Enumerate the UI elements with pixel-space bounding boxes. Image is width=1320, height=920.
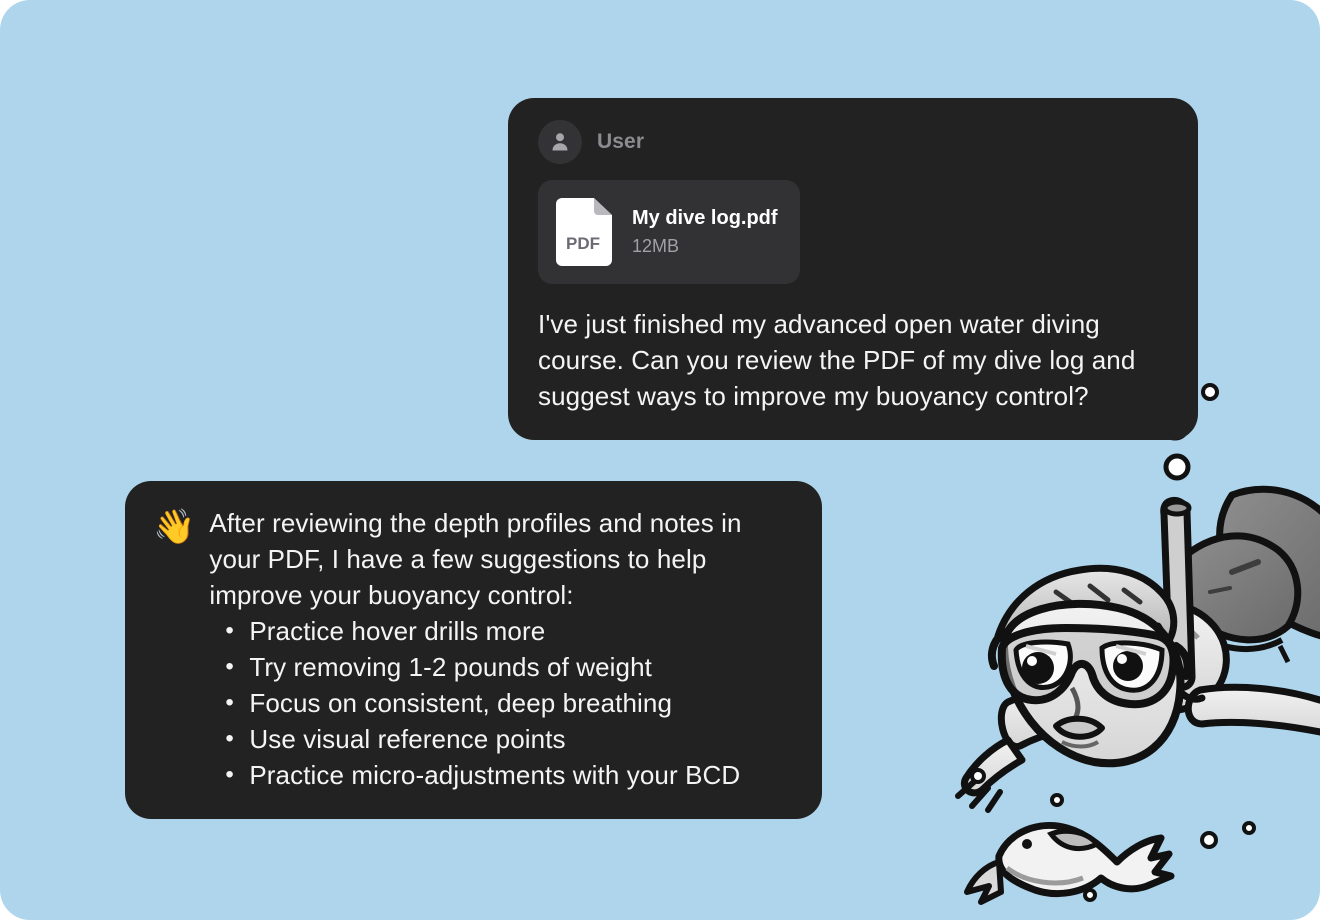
air-bubble-icon — [1080, 885, 1100, 905]
list-item: Focus on consistent, deep breathing — [209, 685, 792, 721]
assistant-message-bubble: 👋 After reviewing the depth profiles and… — [125, 481, 822, 819]
wetsuit-sleeve — [1176, 489, 1320, 662]
user-name-label: User — [597, 130, 644, 154]
air-bubble-icon — [1047, 790, 1067, 810]
assistant-intro-text: After reviewing the depth profiles and n… — [209, 505, 792, 613]
air-bubble-icon — [967, 765, 989, 787]
suggestion-list: Practice hover drills more Try removing … — [209, 613, 792, 793]
air-bubble-icon — [1239, 818, 1259, 838]
air-bubble-icon — [1196, 378, 1224, 406]
list-item: Practice micro-adjustments with your BCD — [209, 757, 792, 793]
snorkeler-left-arm — [958, 688, 1128, 810]
assistant-message-content: After reviewing the depth profiles and n… — [209, 505, 792, 793]
file-size-label: 12MB — [632, 236, 778, 257]
snorkeler-torso — [1116, 605, 1226, 711]
snorkel-tube — [1164, 500, 1202, 699]
air-bubble-icon — [1197, 828, 1221, 852]
file-name-label: My dive log.pdf — [632, 207, 778, 230]
user-message-header: User — [538, 120, 1170, 164]
user-message-text: I've just finished my advanced open wate… — [538, 306, 1170, 414]
snorkeler-figure — [880, 440, 1320, 920]
user-message-bubble: User PDF My dive log.pdf 12MB I've just … — [508, 98, 1198, 440]
snorkeler-head — [992, 568, 1188, 763]
waving-hand-emoji: 👋 — [153, 507, 195, 547]
assistant-message-body: 👋 After reviewing the depth profiles and… — [153, 505, 792, 793]
svg-text:PDF: PDF — [566, 234, 600, 253]
page-root: User PDF My dive log.pdf 12MB I've just … — [0, 0, 1320, 920]
list-item: Practice hover drills more — [209, 613, 792, 649]
file-meta: My dive log.pdf 12MB — [632, 207, 778, 257]
list-item: Use visual reference points — [209, 721, 792, 757]
snorkeler-right-arm — [1188, 687, 1320, 736]
list-item: Try removing 1-2 pounds of weight — [209, 649, 792, 685]
air-bubble-icon — [1160, 450, 1194, 484]
file-attachment-card[interactable]: PDF My dive log.pdf 12MB — [538, 180, 800, 284]
fish-illustration — [955, 800, 1215, 920]
person-avatar-icon — [538, 120, 582, 164]
pdf-file-icon: PDF — [556, 198, 612, 266]
